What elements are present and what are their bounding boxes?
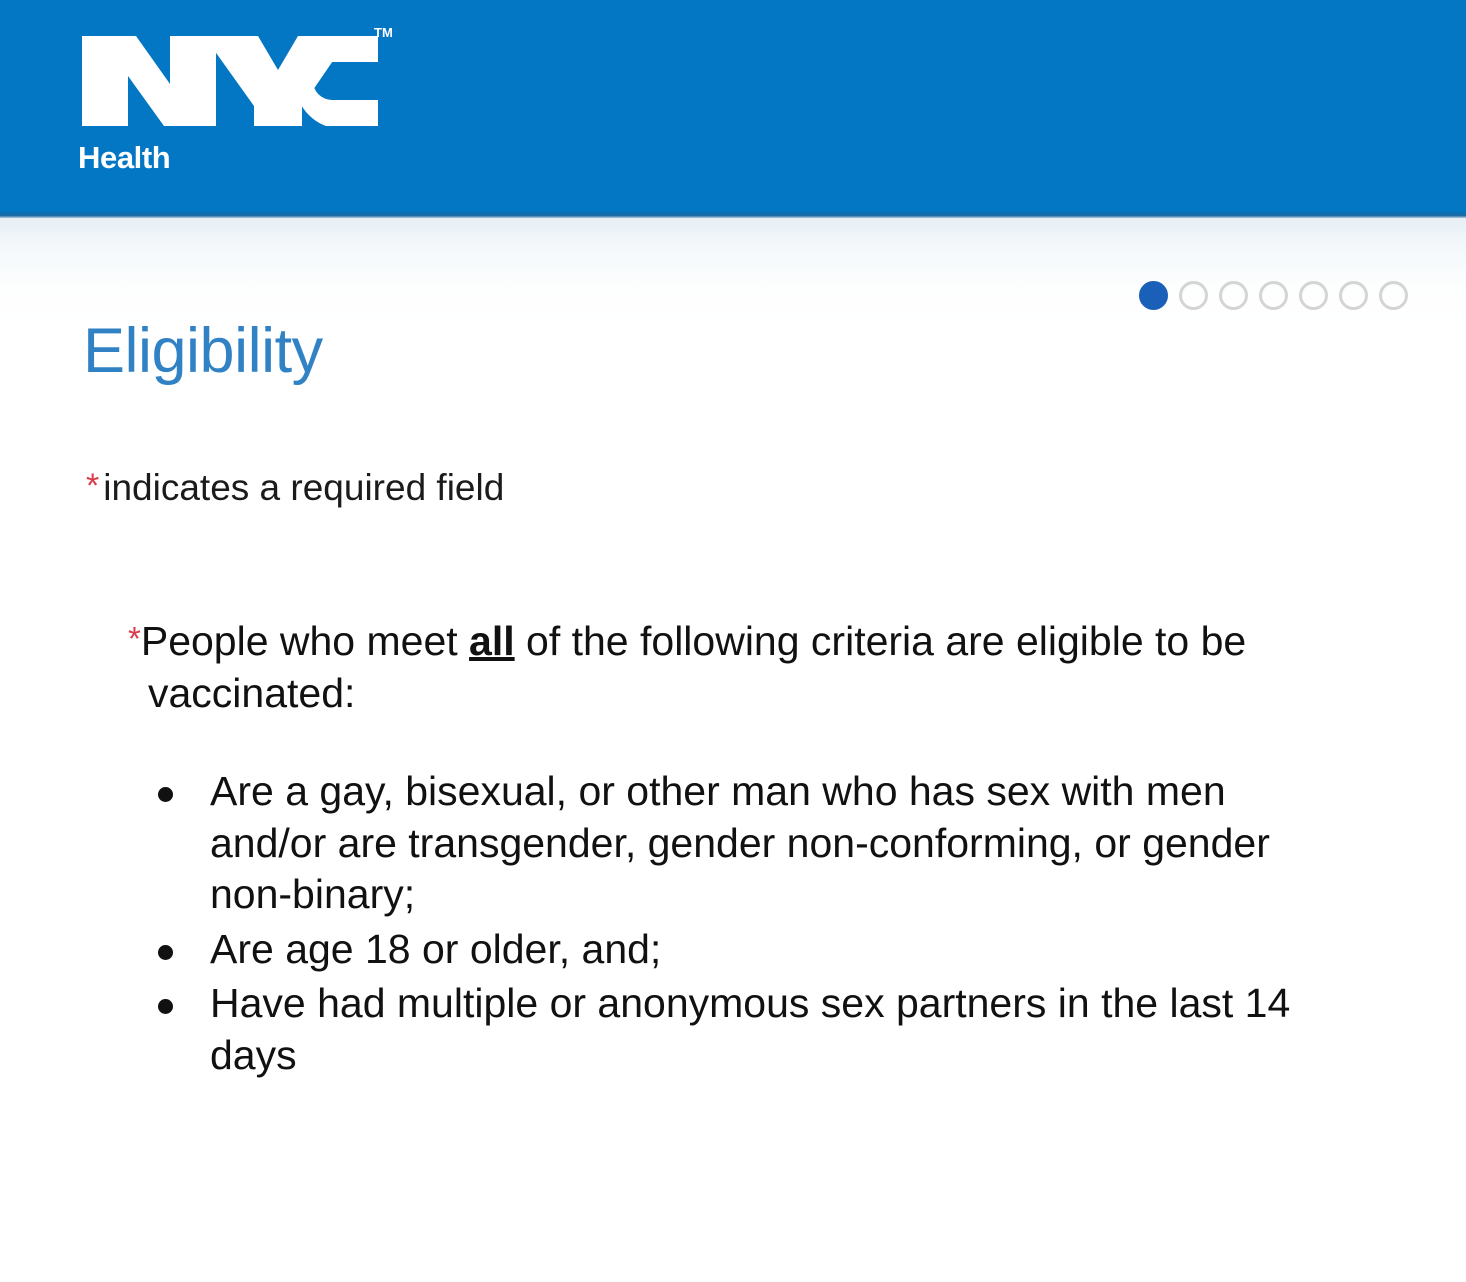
step-dot-5[interactable]	[1299, 281, 1328, 310]
logo-subtext: Health	[78, 142, 408, 173]
criteria-list: Are a gay, bisexual, or other man who ha…	[128, 766, 1313, 1081]
step-dot-1[interactable]	[1139, 281, 1168, 310]
step-dot-7[interactable]	[1379, 281, 1408, 310]
step-dot-4[interactable]	[1259, 281, 1288, 310]
required-field-note: *indicates a required field	[86, 466, 504, 510]
trademark-icon: TM	[374, 26, 393, 39]
list-item: Have had multiple or anonymous sex partn…	[128, 978, 1313, 1081]
required-asterisk-icon: *	[86, 467, 99, 505]
step-dot-6[interactable]	[1339, 281, 1368, 310]
nyc-health-logo[interactable]: TM Health	[78, 22, 408, 187]
step-indicator[interactable]	[1139, 281, 1408, 310]
required-note-label: indicates a required field	[103, 467, 504, 508]
criteria-asterisk-icon: *	[128, 620, 141, 657]
site-header: TM Health	[0, 0, 1466, 218]
nyc-wordmark-icon: TM	[78, 22, 388, 130]
criteria-lead-before: People who meet	[141, 618, 469, 664]
main-content: Eligibility *indicates a required field …	[0, 218, 1466, 1282]
step-dot-2[interactable]	[1179, 281, 1208, 310]
list-item: Are a gay, bisexual, or other man who ha…	[128, 766, 1313, 920]
criteria-lead-emphasis: all	[469, 618, 515, 664]
criteria-lead-text: *People who meet all of the following cr…	[128, 616, 1313, 719]
step-dot-3[interactable]	[1219, 281, 1248, 310]
list-item: Are age 18 or older, and;	[128, 924, 1313, 975]
eligibility-criteria: *People who meet all of the following cr…	[128, 616, 1313, 1084]
page-title: Eligibility	[83, 320, 323, 383]
